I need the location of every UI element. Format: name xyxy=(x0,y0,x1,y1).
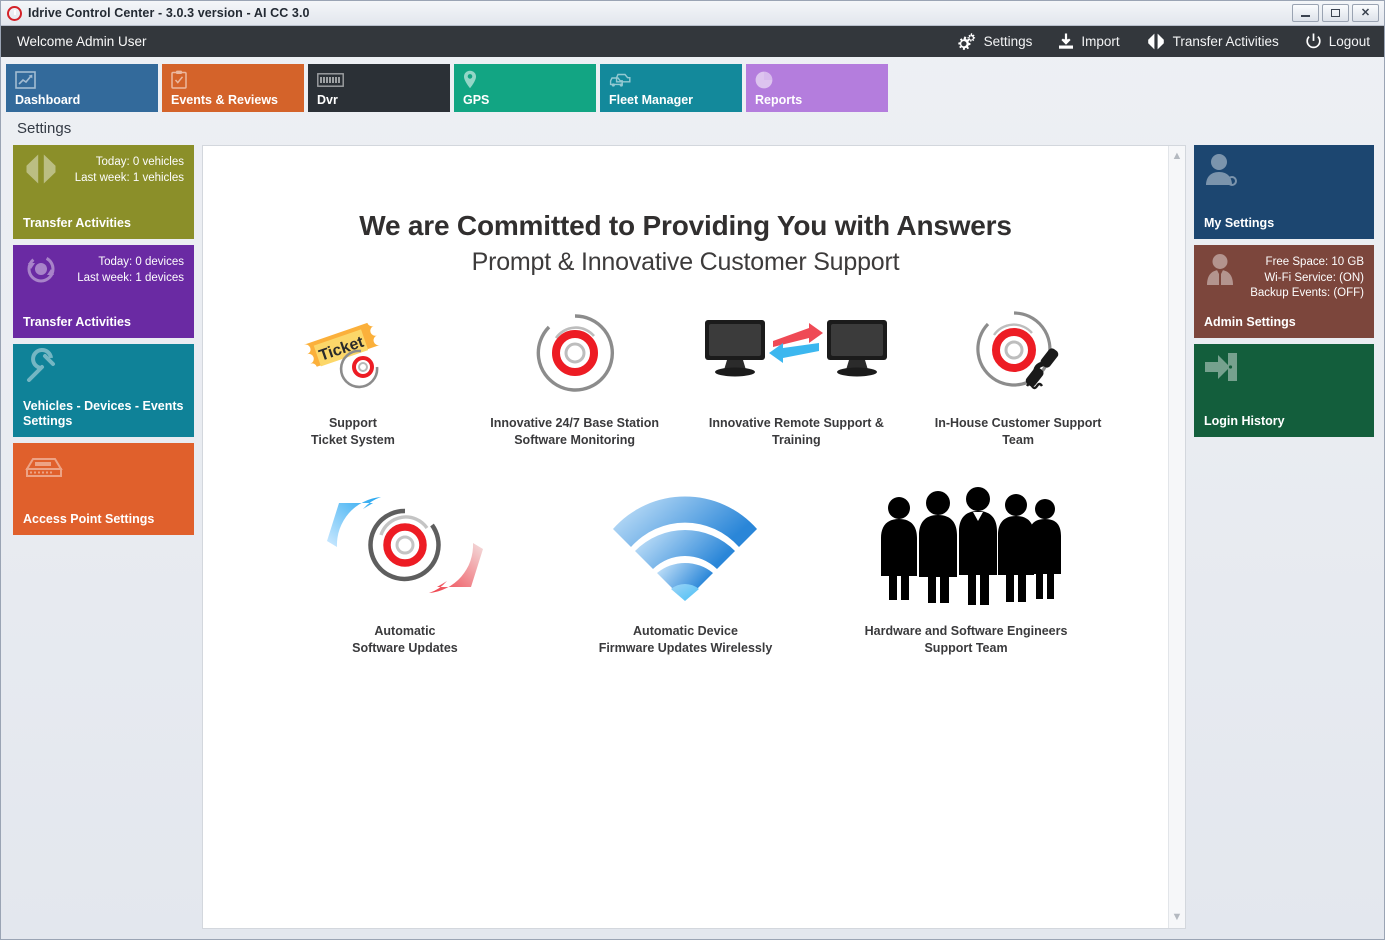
admin-user-icon xyxy=(1204,253,1236,290)
top-menu-import-label: Import xyxy=(1081,34,1119,49)
tile-title: Admin Settings xyxy=(1204,315,1364,330)
left-sidebar: Today: 0 vehicles Last week: 1 vehicles … xyxy=(13,145,194,929)
tile-stat-line: Wi-Fi Service: (ON) xyxy=(1250,271,1364,287)
maximize-button[interactable] xyxy=(1322,4,1349,22)
map-pin-icon xyxy=(463,70,586,89)
gears-icon xyxy=(958,33,977,50)
tile-transfer-activities-devices[interactable]: Today: 0 devices Last week: 1 devices Tr… xyxy=(13,245,194,338)
target-logo-icon xyxy=(7,6,22,21)
tile-stats: Today: 0 devices Last week: 1 devices xyxy=(77,253,184,286)
tab-gps-label: GPS xyxy=(463,93,586,112)
feature-caption-line1: In-House Customer Support xyxy=(935,415,1102,432)
tile-stat-line: Free Space: 10 GB xyxy=(1250,255,1364,271)
download-icon xyxy=(1058,33,1074,50)
tab-dashboard-label: Dashboard xyxy=(15,93,148,112)
page-title: Settings xyxy=(17,120,71,137)
top-menu-bar: Welcome Admin User Settings xyxy=(1,26,1384,57)
tile-title: Transfer Activities xyxy=(23,216,184,231)
tab-dvr[interactable]: Dvr xyxy=(308,64,450,112)
top-menu-settings[interactable]: Settings xyxy=(958,33,1033,50)
software-update-arrows-icon xyxy=(315,481,495,609)
tile-stat-line: Last week: 1 vehicles xyxy=(75,171,184,187)
feature-caption: Automatic Device Firmware Updates Wirele… xyxy=(599,623,773,657)
top-menu-logout-label: Logout xyxy=(1329,34,1370,49)
feature-caption-line1: Innovative 24/7 Base Station xyxy=(490,415,659,432)
feature-caption-line2: Team xyxy=(935,432,1102,449)
tile-title: Vehicles - Devices - Events Settings xyxy=(23,399,184,429)
feature-grid-row-2: Automatic Software Updates xyxy=(203,449,1168,657)
power-icon xyxy=(1305,33,1322,50)
tab-gps[interactable]: GPS xyxy=(454,64,596,112)
tab-reports-label: Reports xyxy=(755,93,878,112)
clipboard-check-icon xyxy=(171,70,294,89)
wrench-gear-icon xyxy=(23,352,59,389)
tile-admin-settings[interactable]: Free Space: 10 GB Wi-Fi Service: (ON) Ba… xyxy=(1194,245,1374,338)
transfer-arrows-icon xyxy=(1146,33,1166,50)
base-station-monitoring-icon xyxy=(532,305,618,401)
tile-access-point-settings[interactable]: Access Point Settings xyxy=(13,443,194,535)
content-subheading: Prompt & Innovative Customer Support xyxy=(203,248,1168,277)
tile-title: My Settings xyxy=(1204,216,1364,231)
top-menu-transfer-activities[interactable]: Transfer Activities xyxy=(1146,33,1279,50)
top-menu-items: Settings Import Transf xyxy=(958,33,1370,50)
tab-events-reviews-label: Events & Reviews xyxy=(171,93,294,112)
application-window: Idrive Control Center - 3.0.3 version - … xyxy=(0,0,1385,940)
feature-caption: Innovative Remote Support & Training xyxy=(709,415,884,449)
window-controls: ✕ xyxy=(1292,4,1382,22)
feature-hardware-software-engineers: Hardware and Software Engineers Support … xyxy=(826,481,1107,657)
tab-dashboard[interactable]: Dashboard xyxy=(6,64,158,112)
feature-caption-line2: Training xyxy=(709,432,884,449)
feature-caption: In-House Customer Support Team xyxy=(935,415,1102,449)
close-icon: ✕ xyxy=(1361,8,1370,19)
vertical-scrollbar[interactable]: ▲ ▼ xyxy=(1168,146,1185,928)
main-navigation-tabs: Dashboard Events & Reviews xyxy=(1,57,1384,112)
tile-title: Login History xyxy=(1204,414,1364,429)
tile-stats: Today: 0 vehicles Last week: 1 vehicles xyxy=(75,153,184,186)
scroll-down-arrow-icon[interactable]: ▼ xyxy=(1172,912,1183,923)
login-door-icon xyxy=(1204,352,1238,387)
feature-remote-support-training: Innovative Remote Support & Training xyxy=(686,305,908,449)
router-icon xyxy=(23,451,63,486)
phone-support-icon xyxy=(970,305,1066,401)
remote-support-monitors-icon xyxy=(701,305,891,401)
feature-caption-line1: Automatic xyxy=(352,623,458,640)
page-body: Today: 0 vehicles Last week: 1 vehicles … xyxy=(1,145,1384,939)
feature-caption-line2: Software Monitoring xyxy=(490,432,659,449)
tile-transfer-activities-vehicles[interactable]: Today: 0 vehicles Last week: 1 vehicles … xyxy=(13,145,194,239)
tab-fleet-manager-label: Fleet Manager xyxy=(609,93,732,112)
feature-automatic-device-firmware-updates: Automatic Device Firmware Updates Wirele… xyxy=(545,481,826,657)
maximize-icon xyxy=(1331,9,1340,17)
main-content-scroll-area: We are Committed to Providing You with A… xyxy=(203,146,1168,928)
feature-caption-line1: Innovative Remote Support & xyxy=(709,415,884,432)
sync-circle-icon xyxy=(23,253,59,290)
feature-caption-line2: Firmware Updates Wirelessly xyxy=(599,640,773,657)
tab-reports[interactable]: Reports xyxy=(746,64,888,112)
feature-support-ticket-system: Ticket Support Ticket S xyxy=(242,305,464,449)
tile-stats: Free Space: 10 GB Wi-Fi Service: (ON) Ba… xyxy=(1250,253,1364,302)
wifi-signal-icon xyxy=(605,481,765,609)
window-title: Idrive Control Center - 3.0.3 version - … xyxy=(28,6,310,20)
feature-caption: Automatic Software Updates xyxy=(352,623,458,657)
hero-section: We are Committed to Providing You with A… xyxy=(203,146,1168,277)
feature-automatic-software-updates: Automatic Software Updates xyxy=(265,481,546,657)
main-content-panel: We are Committed to Providing You with A… xyxy=(202,145,1186,929)
tile-title: Transfer Activities xyxy=(23,315,184,330)
tile-stat-line: Today: 0 vehicles xyxy=(75,155,184,171)
feature-caption-line2: Software Updates xyxy=(352,640,458,657)
feature-in-house-customer-support: In-House Customer Support Team xyxy=(907,305,1129,449)
top-menu-settings-label: Settings xyxy=(984,34,1033,49)
minimize-button[interactable] xyxy=(1292,4,1319,22)
feature-caption-line2: Ticket System xyxy=(311,432,395,449)
dvr-device-icon xyxy=(317,70,440,89)
user-avatar-icon xyxy=(1204,153,1238,190)
close-button[interactable]: ✕ xyxy=(1352,4,1379,22)
support-ticket-icon: Ticket xyxy=(299,305,407,401)
content-heading: We are Committed to Providing You with A… xyxy=(203,210,1168,242)
tab-events-reviews[interactable]: Events & Reviews xyxy=(162,64,304,112)
feature-caption-line2: Support Team xyxy=(865,640,1068,657)
feature-caption-line1: Hardware and Software Engineers xyxy=(865,623,1068,640)
top-menu-transfer-label: Transfer Activities xyxy=(1173,34,1279,49)
tile-stat-line: Backup Events: (OFF) xyxy=(1250,286,1364,302)
feature-caption-line1: Automatic Device xyxy=(599,623,773,640)
tile-login-history[interactable]: Login History xyxy=(1194,344,1374,437)
feature-caption: Innovative 24/7 Base Station Software Mo… xyxy=(490,415,659,449)
engineers-team-icon xyxy=(871,481,1061,609)
tile-stat-line: Last week: 1 devices xyxy=(77,271,184,287)
tile-title: Access Point Settings xyxy=(23,512,184,527)
feature-caption-line1: Support xyxy=(311,415,395,432)
welcome-message: Welcome Admin User xyxy=(17,34,147,49)
page-caption: Settings xyxy=(1,112,1384,145)
right-sidebar: My Settings Free Space: 10 GB Wi xyxy=(1194,145,1374,929)
feature-caption: Support Ticket System xyxy=(311,415,395,449)
tile-my-settings[interactable]: My Settings xyxy=(1194,145,1374,239)
top-menu-logout[interactable]: Logout xyxy=(1305,33,1370,50)
feature-caption: Hardware and Software Engineers Support … xyxy=(865,623,1068,657)
transfer-arrows-icon xyxy=(23,153,59,190)
title-bar: Idrive Control Center - 3.0.3 version - … xyxy=(1,1,1384,26)
feature-grid-row-1: Ticket Support Ticket S xyxy=(203,277,1168,449)
tile-stat-line: Today: 0 devices xyxy=(77,255,184,271)
pie-chart-icon xyxy=(755,70,878,89)
feature-base-station-monitoring: Innovative 24/7 Base Station Software Mo… xyxy=(464,305,686,449)
scroll-up-arrow-icon[interactable]: ▲ xyxy=(1172,151,1183,162)
vehicles-icon xyxy=(609,70,732,89)
minimize-icon xyxy=(1301,15,1310,17)
tab-fleet-manager[interactable]: Fleet Manager xyxy=(600,64,742,112)
top-menu-import[interactable]: Import xyxy=(1058,33,1119,50)
tab-dvr-label: Dvr xyxy=(317,93,440,112)
tile-vehicles-devices-events-settings[interactable]: Vehicles - Devices - Events Settings xyxy=(13,344,194,437)
chart-growth-icon xyxy=(15,70,148,89)
